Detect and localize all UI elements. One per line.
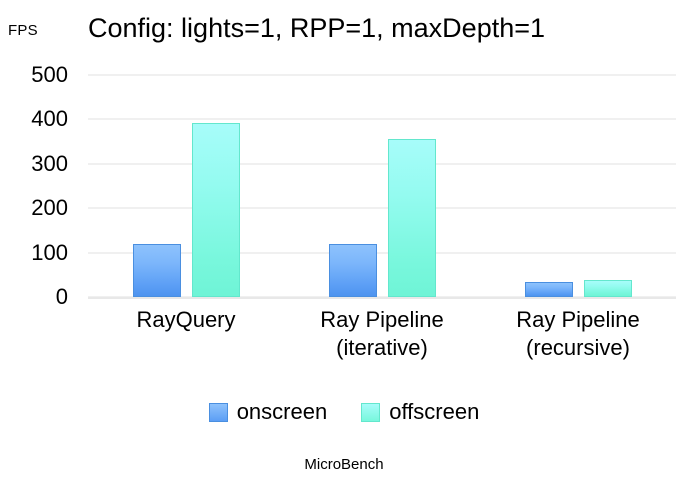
x-axis-category-label: RayQuery [88, 306, 284, 334]
y-axis-tick-label: 200 [31, 196, 68, 220]
legend-item-onscreen[interactable]: onscreen [209, 400, 328, 424]
category-line-1: Ray Pipeline [320, 307, 444, 332]
bar-chart: FPS Config: lights=1, RPP=1, maxDepth=1 … [0, 0, 688, 480]
y-axis-tick-label: 100 [31, 241, 68, 265]
y-axis-tick-labels: 5004003002001000 [0, 75, 78, 297]
bar-offscreen-2[interactable] [584, 280, 632, 297]
bars-layer [88, 75, 676, 297]
legend-label-offscreen: offscreen [389, 400, 479, 424]
y-axis-tick-label: 400 [31, 107, 68, 131]
bar-offscreen-1[interactable] [388, 139, 436, 297]
bar-offscreen-0[interactable] [192, 123, 240, 297]
y-axis-tick-label: 500 [31, 63, 68, 87]
x-axis-category-labels: RayQueryRay Pipeline(iterative)Ray Pipel… [88, 306, 676, 386]
legend-item-offscreen[interactable]: offscreen [361, 400, 479, 424]
category-line-1: RayQuery [136, 307, 235, 332]
legend-swatch-icon-onscreen [209, 403, 228, 422]
legend-swatch-icon-offscreen [361, 403, 380, 422]
x-axis-category-label: Ray Pipeline(iterative) [284, 306, 480, 362]
category-line-2: (recursive) [480, 334, 676, 362]
category-line-1: Ray Pipeline [516, 307, 640, 332]
legend-label-onscreen: onscreen [237, 400, 328, 424]
category-line-2: (iterative) [284, 334, 480, 362]
y-axis-tick-label: 0 [56, 285, 68, 309]
x-axis-title: MicroBench [0, 456, 688, 474]
legend: onscreen offscreen [0, 400, 688, 424]
chart-title: Config: lights=1, RPP=1, maxDepth=1 [88, 12, 648, 45]
bar-onscreen-1[interactable] [329, 244, 377, 297]
x-axis-line [88, 297, 676, 299]
bar-onscreen-2[interactable] [525, 282, 573, 297]
y-axis-tick-label: 300 [31, 152, 68, 176]
y-axis-unit-label: FPS [8, 22, 38, 39]
bar-onscreen-0[interactable] [133, 244, 181, 297]
x-axis-category-label: Ray Pipeline(recursive) [480, 306, 676, 362]
